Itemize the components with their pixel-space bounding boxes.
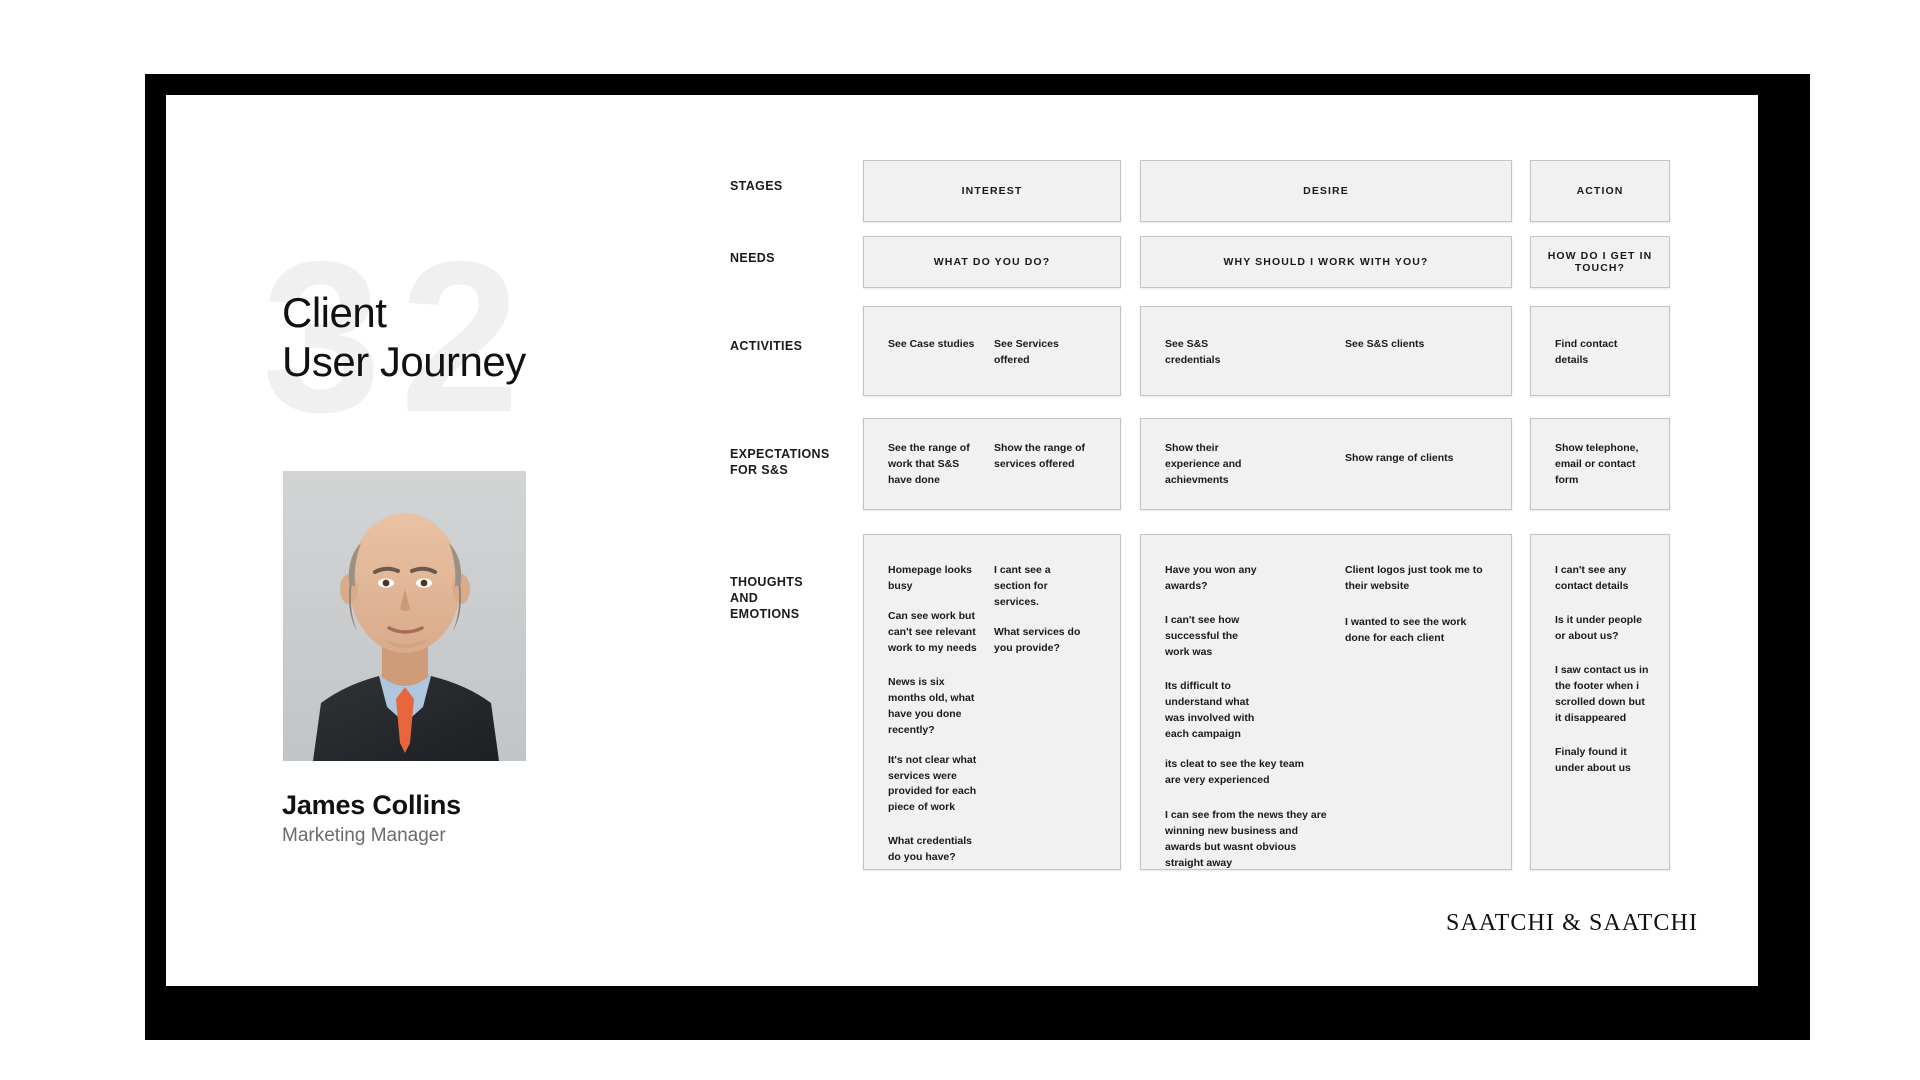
stage-cell-action[interactable]: ACTION	[1530, 160, 1670, 222]
note-group: See the range of work that S&S have done	[888, 441, 992, 489]
need-label-desire: WHY SHOULD I WORK WITH YOU?	[1224, 256, 1429, 268]
activity-notes-desire: See S&S credentials See S&S clients	[1141, 307, 1511, 395]
thought-note: I can't see how successful the work was	[1165, 613, 1349, 661]
thought-note: What services do you provide?	[994, 625, 1104, 657]
matrix-row-needs: NEEDS WHAT DO YOU DO? WHY SHOULD I WORK …	[730, 236, 1670, 288]
need-label-action: HOW DO I GET IN TOUCH?	[1531, 250, 1669, 274]
note-group: See Case studies	[888, 337, 998, 353]
need-cell-action[interactable]: HOW DO I GET IN TOUCH?	[1530, 236, 1670, 288]
thought-note: I wanted to see the work done for each c…	[1345, 615, 1505, 647]
stage-cell-desire[interactable]: DESIRE	[1140, 160, 1512, 222]
note-group: I cant see a section for services. What …	[994, 563, 1104, 657]
expectation-notes-action: Show telephone, email or contact form	[1531, 419, 1669, 509]
expectation-notes-desire: Show their experience and achievments Sh…	[1141, 419, 1511, 509]
activity-notes-interest: See Case studies See Services offered	[864, 307, 1120, 395]
expectation-note: Show their experience and achievments	[1165, 441, 1285, 489]
persona-name: James Collins	[282, 790, 461, 821]
thought-note: Have you won any awards?	[1165, 563, 1349, 595]
thought-cell-interest[interactable]: Homepage looks busy Can see work but can…	[863, 534, 1121, 870]
stage-label-action: ACTION	[1577, 185, 1624, 197]
activity-cell-desire[interactable]: See S&S credentials See S&S clients	[1140, 306, 1512, 396]
need-label-interest: WHAT DO YOU DO?	[934, 256, 1050, 268]
page-title: Client User Journey	[282, 289, 526, 386]
thought-note: What credentials do you have?	[888, 834, 992, 866]
journey-matrix: STAGES INTEREST DESIRE ACTION NEEDS WHAT…	[730, 160, 1670, 870]
thought-note: Client logos just took me to their websi…	[1345, 563, 1505, 595]
note-group: See S&S clients	[1345, 337, 1495, 353]
thought-cell-action[interactable]: I can't see any contact details Is it un…	[1530, 534, 1670, 870]
activity-note: See S&S credentials	[1165, 337, 1285, 369]
thought-notes-action: I can't see any contact details Is it un…	[1531, 535, 1669, 869]
expectation-cell-action[interactable]: Show telephone, email or contact form	[1530, 418, 1670, 510]
expectation-cell-interest[interactable]: See the range of work that S&S have done…	[863, 418, 1121, 510]
stage-label-desire: DESIRE	[1303, 185, 1349, 197]
thought-note: Can see work but can't see relevant work…	[888, 609, 992, 657]
note-group: Homepage looks busy Can see work but can…	[888, 563, 992, 866]
stage-cell-interest[interactable]: INTEREST	[863, 160, 1121, 222]
note-group: Find contact details	[1555, 337, 1667, 369]
thought-notes-desire: Have you won any awards? I can't see how…	[1141, 535, 1511, 869]
thought-note: Is it under people or about us?	[1555, 613, 1663, 645]
note-group: See S&S credentials	[1165, 337, 1285, 369]
brand-logo: SAATCHI & SAATCHI	[1446, 910, 1698, 937]
row-label-needs: NEEDS	[730, 250, 848, 266]
note-group: Have you won any awards? I can't see how…	[1165, 563, 1349, 872]
matrix-row-activities: ACTIVITIES See Case studies See Services…	[730, 306, 1670, 396]
need-cell-interest[interactable]: WHAT DO YOU DO?	[863, 236, 1121, 288]
persona-panel: 3 2 Client User Journey	[140, 135, 570, 855]
note-group: Show telephone, email or contact form	[1555, 441, 1667, 489]
row-label-expectations: EXPECTATIONS FOR S&S	[730, 446, 848, 478]
note-group: Show range of clients	[1345, 451, 1505, 467]
activity-cell-interest[interactable]: See Case studies See Services offered	[863, 306, 1121, 396]
thought-note: Its difficult to understand what was inv…	[1165, 679, 1349, 743]
matrix-row-stages: STAGES INTEREST DESIRE ACTION	[730, 160, 1670, 222]
activity-note: See S&S clients	[1345, 337, 1495, 353]
thought-note: News is six months old, what have you do…	[888, 675, 992, 739]
note-group: Client logos just took me to their websi…	[1345, 563, 1505, 647]
activity-note: See Case studies	[888, 337, 998, 353]
thought-note: Homepage looks busy	[888, 563, 992, 595]
thought-note: I cant see a section for services.	[994, 563, 1104, 611]
thought-note: It's not clear what services were provid…	[888, 753, 992, 817]
expectation-note: Show range of clients	[1345, 451, 1505, 467]
matrix-row-thoughts: THOUGHTS AND EMOTIONS Homepage looks bus…	[730, 534, 1670, 870]
matrix-row-expectations: EXPECTATIONS FOR S&S See the range of wo…	[730, 418, 1670, 510]
note-group: Show the range of services offered	[994, 441, 1114, 473]
expectation-notes-interest: See the range of work that S&S have done…	[864, 419, 1120, 509]
note-group: I can't see any contact details Is it un…	[1555, 563, 1663, 777]
thought-note: Finaly found it under about us	[1555, 745, 1663, 777]
activity-cell-action[interactable]: Find contact details	[1530, 306, 1670, 396]
portrait-illustration	[283, 471, 526, 761]
note-group: See Services offered	[994, 337, 1114, 369]
need-cell-desire[interactable]: WHY SHOULD I WORK WITH YOU?	[1140, 236, 1512, 288]
thought-note: I can see from the news they are winning…	[1165, 808, 1349, 872]
expectation-note: See the range of work that S&S have done	[888, 441, 992, 489]
thought-note: I saw contact us in the footer when i sc…	[1555, 663, 1663, 727]
thought-notes-interest: Homepage looks busy Can see work but can…	[864, 535, 1120, 869]
activity-notes-action: Find contact details	[1531, 307, 1669, 395]
activity-note: See Services offered	[994, 337, 1114, 369]
thought-note: its cleat to see the key team are very e…	[1165, 757, 1349, 789]
note-group: Show their experience and achievments	[1165, 441, 1285, 489]
expectation-note: Show telephone, email or contact form	[1555, 441, 1667, 489]
expectation-note: Show the range of services offered	[994, 441, 1114, 473]
row-label-stages: STAGES	[730, 178, 848, 194]
thought-cell-desire[interactable]: Have you won any awards? I can't see how…	[1140, 534, 1512, 870]
activity-note: Find contact details	[1555, 337, 1667, 369]
stage-label-interest: INTEREST	[962, 185, 1023, 197]
row-label-activities: ACTIVITIES	[730, 338, 848, 354]
persona-avatar-photo	[283, 471, 526, 761]
persona-role: Marketing Manager	[282, 825, 446, 847]
thought-note: I can't see any contact details	[1555, 563, 1663, 595]
expectation-cell-desire[interactable]: Show their experience and achievments Sh…	[1140, 418, 1512, 510]
row-label-thoughts: THOUGHTS AND EMOTIONS	[730, 574, 848, 622]
